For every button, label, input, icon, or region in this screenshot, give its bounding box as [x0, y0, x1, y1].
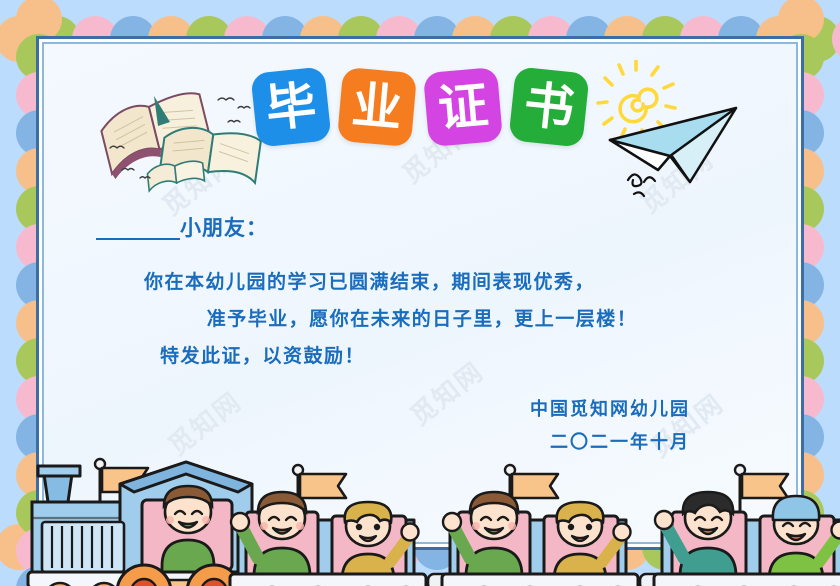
title-tile-0: 毕	[250, 66, 331, 147]
salutation-text: 小朋友：	[180, 216, 268, 240]
title-char-1: 业	[350, 80, 404, 134]
title-tile-2: 证	[423, 67, 503, 147]
title-tile-3: 书	[508, 66, 589, 147]
certificate-page: 觅知网 觅知网 觅知网 觅知网 觅知网 觅知网	[0, 0, 840, 586]
body-paragraph-1: 你在本幼儿园的学习已圆满结束，期间表现优秀，	[96, 264, 748, 301]
cartoon-train-icon	[0, 422, 840, 586]
title-char-0: 毕	[264, 80, 319, 135]
body-paragraph-2: 准予毕业，愿你在未来的日子里，更上一层楼！	[96, 301, 748, 338]
body-paragraph-3: 特发此证，以资鼓励！	[96, 338, 748, 375]
title-char-3: 书	[522, 80, 577, 135]
salutation-line: ________小朋友：	[96, 212, 748, 242]
name-blank: ________	[96, 216, 180, 240]
title-char-2: 证	[436, 80, 490, 134]
certificate-title: 毕 业 证 书	[44, 70, 796, 144]
title-tile-1: 业	[337, 67, 417, 147]
